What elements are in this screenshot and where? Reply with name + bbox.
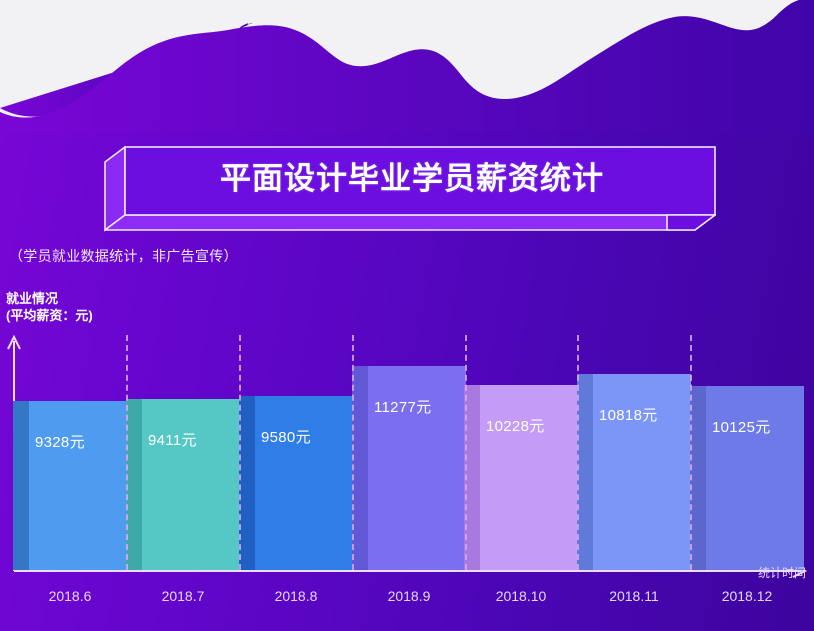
bar-side-face xyxy=(126,399,142,570)
bar-value-label: 9328元 xyxy=(35,431,85,452)
gridline-2018.8 xyxy=(352,335,354,570)
top-wave-decoration xyxy=(0,0,814,132)
x-axis-tick-labels: 2018.62018.72018.82018.92018.102018.1120… xyxy=(13,588,803,612)
bar-side-face xyxy=(239,396,255,570)
bar-value-label: 10818元 xyxy=(599,404,658,425)
bar-front-face xyxy=(464,385,578,570)
bar-side-face xyxy=(577,374,593,570)
bar-2018.12: 10125元 xyxy=(690,386,804,570)
y-axis-caption: 就业情况 (平均薪资：元) xyxy=(6,290,93,324)
bar-front-face xyxy=(239,396,353,570)
bar-front-face xyxy=(13,401,127,570)
x-tick-2018.10: 2018.10 xyxy=(464,588,578,604)
gridline-2018.11 xyxy=(690,335,692,570)
gridline-2018.7 xyxy=(239,335,241,570)
bar-side-face xyxy=(352,366,368,570)
bar-value-label: 9580元 xyxy=(261,426,311,447)
title-banner: 平面设计毕业学员薪资统计 xyxy=(104,146,716,232)
bar-value-label: 10228元 xyxy=(486,415,545,436)
subtitle-note: （学员就业数据统计，非广告宣传） xyxy=(9,246,238,266)
bar-value-label: 11277元 xyxy=(374,396,431,417)
gridline-2018.9 xyxy=(465,335,467,570)
bar-2018.9: 11277元 xyxy=(352,366,466,570)
x-tick-2018.12: 2018.12 xyxy=(690,588,804,604)
bar-front-face xyxy=(690,386,804,570)
chart-plot-area: 9328元9411元9580元11277元10228元10818元10125元 xyxy=(13,335,803,570)
bar-2018.10: 10228元 xyxy=(464,385,578,570)
bar-value-label: 9411元 xyxy=(148,429,197,450)
gridline-2018.6 xyxy=(126,335,128,570)
bar-side-face xyxy=(13,401,29,570)
x-axis-caption: 统计时间 xyxy=(758,564,806,581)
bar-series: 9328元9411元9580元11277元10228元10818元10125元 xyxy=(13,338,803,570)
bar-value-label: 10125元 xyxy=(712,416,771,437)
x-tick-2018.11: 2018.11 xyxy=(577,588,691,604)
x-tick-2018.9: 2018.9 xyxy=(352,588,466,604)
y-axis-caption-line2: (平均薪资：元) xyxy=(6,307,93,324)
x-tick-2018.7: 2018.7 xyxy=(126,588,240,604)
x-tick-2018.6: 2018.6 xyxy=(13,588,127,604)
bar-side-face xyxy=(690,386,706,570)
y-axis-caption-line1: 就业情况 xyxy=(6,290,93,307)
poster-root: 平面设计毕业学员薪资统计 （学员就业数据统计，非广告宣传） 就业情况 (平均薪资… xyxy=(0,0,814,631)
bar-2018.11: 10818元 xyxy=(577,374,691,570)
x-tick-2018.8: 2018.8 xyxy=(239,588,353,604)
bar-2018.8: 9580元 xyxy=(239,396,353,570)
bar-2018.6: 9328元 xyxy=(13,401,127,570)
bar-front-face xyxy=(126,399,240,570)
gridline-2018.10 xyxy=(577,335,579,570)
bar-2018.7: 9411元 xyxy=(126,399,240,570)
page-title: 平面设计毕业学员薪资统计 xyxy=(124,146,700,214)
